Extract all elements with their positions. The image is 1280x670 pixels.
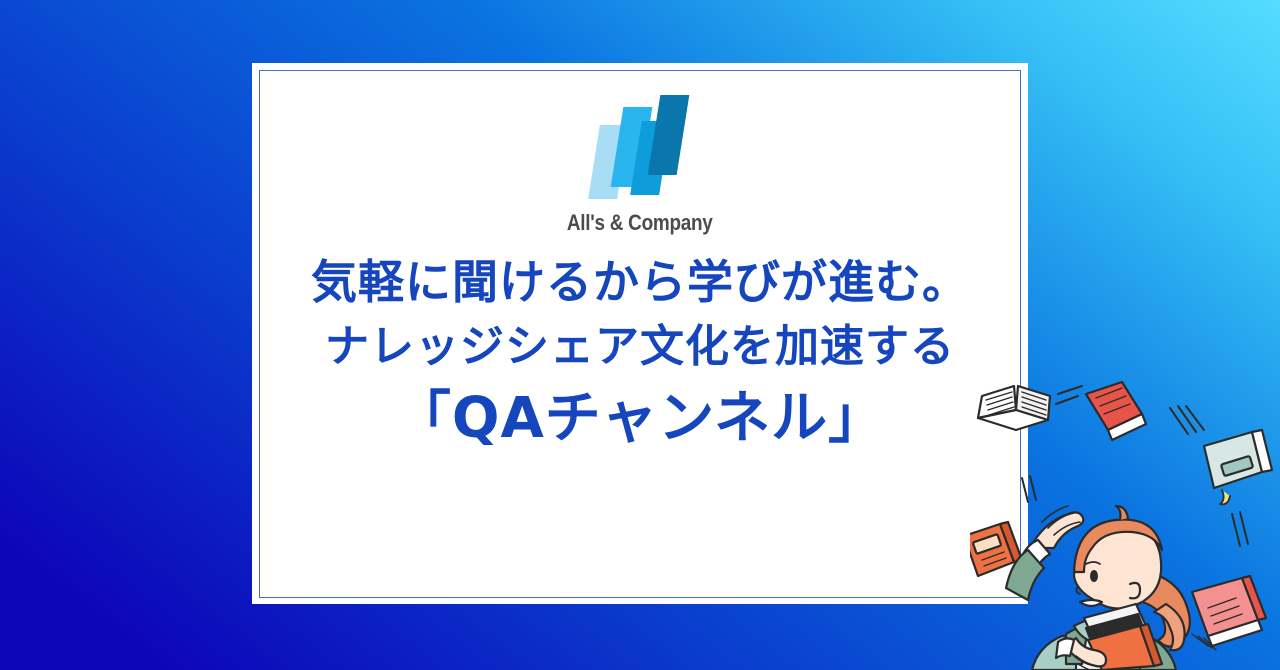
person-figure [1006,506,1190,670]
headline: 気軽に聞けるから学びが進む。 ナレッジシェア文化を加速する 「QAチャンネル」 [252,259,1028,447]
red-book-icon [1086,382,1146,440]
logo-bar-4 [648,95,690,175]
slide-stage: All's & Company 気軽に聞けるから学びが進む。 ナレッジシェア文化… [0,0,1280,670]
company-logo: All's & Company [252,93,1028,236]
content-card: All's & Company 気軽に聞けるから学びが進む。 ナレッジシェア文化… [252,63,1028,604]
teal-notebook-icon [1204,430,1272,504]
alls-and-company-logo-mark [592,93,688,201]
motion-lines-3 [1232,512,1248,546]
held-books-icon [1084,604,1162,670]
motion-lines-2 [1170,406,1204,434]
headline-line-2: ナレッジシェア文化を加速する [252,325,1028,369]
motion-lines-1 [1056,386,1082,404]
headline-line-1: 気軽に聞けるから学びが進む。 [252,259,1028,305]
headline-line-3: 「QAチャンネル」 [252,391,1028,447]
logo-wordmark: All's & Company [567,210,713,236]
pink-book-icon [1192,576,1266,650]
